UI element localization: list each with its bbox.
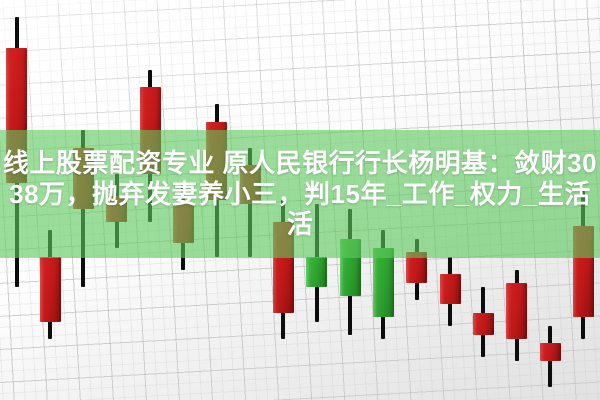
candlestick-body	[373, 248, 394, 318]
chart-image: 线上股票配资专业 原人民银行行长杨明基：敛财30 38万，抛弃发妻养小三，判15…	[0, 0, 600, 400]
candlestick-body	[540, 343, 561, 360]
headline-line-2: 38万，抛弃发妻养小三，判15年_工作_权力_生活	[9, 179, 591, 210]
candlestick-16	[506, 270, 527, 361]
candlestick-17	[540, 326, 561, 387]
headline-overlay-banner: 线上股票配资专业 原人民银行行长杨明基：敛财30 38万，抛弃发妻养小三，判15…	[0, 130, 600, 258]
candlestick-14	[440, 257, 461, 327]
candlestick-body	[506, 283, 527, 340]
candlestick-body	[40, 257, 61, 322]
headline-line-3: 活	[287, 209, 314, 240]
candlestick-body	[440, 274, 461, 304]
candlestick-15	[473, 287, 494, 357]
candlestick-body	[306, 257, 327, 287]
headline-line-1: 线上股票配资专业 原人民银行行长杨明基：敛财30	[3, 148, 597, 179]
candlestick-body	[473, 313, 494, 335]
